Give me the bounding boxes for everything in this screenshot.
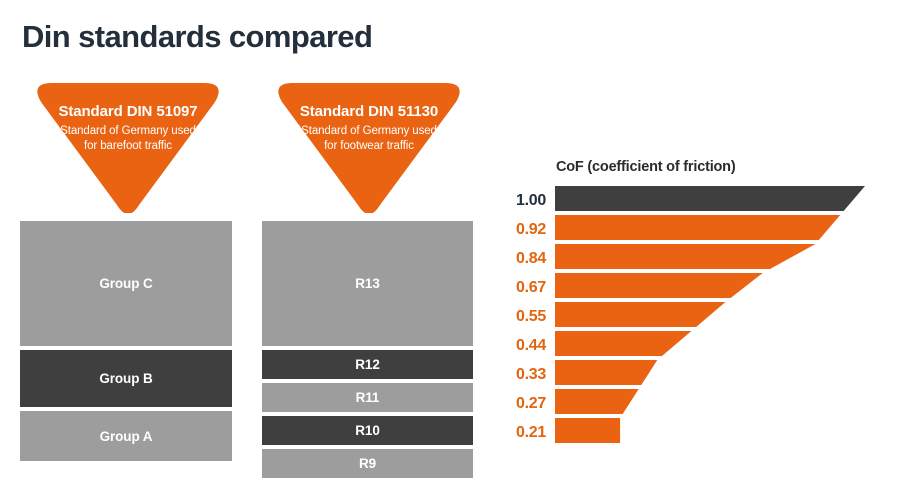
cof-value-label-0-33: 0.33 [492,367,546,383]
cof-bar-0-33[interactable] [555,360,657,385]
bar-label: Group B [99,371,152,386]
callout-subtitle-line1: Standard of Germany used [30,124,226,139]
bar-r12[interactable]: R12 [262,350,473,379]
callout-subtitle-line2: for barefoot traffic [30,139,226,154]
cof-value-label-0-44: 0.44 [492,338,546,354]
groups-bar-column: Group C Group B Group A [20,221,232,471]
bar-group-b[interactable]: Group B [20,350,232,407]
bar-group-a[interactable]: Group A [20,411,232,461]
callout-subtitle-line1: Standard of Germany used [271,124,467,139]
cof-bar-1-00[interactable] [555,186,865,211]
bar-label: R10 [355,423,379,438]
bar-r11[interactable]: R11 [262,383,473,412]
callout-din-51097: Standard DIN 51097 Standard of Germany u… [30,83,226,213]
cof-value-label-0-84: 0.84 [492,251,546,267]
r-rating-bar-column: R13 R12 R11 R10 R9 [262,221,473,471]
bar-label: R12 [355,357,379,372]
bar-label: R9 [359,456,376,471]
cof-value-label-0-67: 0.67 [492,280,546,296]
cof-bar-0-27[interactable] [555,389,639,414]
callout-din-51130: Standard DIN 51130 Standard of Germany u… [271,83,467,213]
callout-subtitle-line2: for footwear traffic [271,139,467,154]
bar-r9[interactable]: R9 [262,449,473,478]
cof-funnel-chart [552,186,898,471]
cof-value-label-0-21: 0.21 [492,425,546,441]
cof-bar-0-55[interactable] [555,302,726,327]
bar-label: Group A [100,429,153,444]
callout-title: Standard DIN 51097 [30,103,226,122]
bar-label: Group C [99,276,152,291]
cof-value-label-0-55: 0.55 [492,309,546,325]
cof-value-label-1-00: 1.00 [492,193,546,209]
bar-group-c[interactable]: Group C [20,221,232,346]
callout-text: Standard DIN 51097 Standard of Germany u… [30,103,226,154]
cof-chart-title: CoF (coefficient of friction) [556,159,735,175]
bar-label: R11 [356,390,380,405]
cof-bar-0-67[interactable] [555,273,763,298]
cof-value-label-0-92: 0.92 [492,222,546,238]
cof-bar-0-92[interactable] [555,215,840,240]
bar-r13[interactable]: R13 [262,221,473,346]
cof-bar-0-21[interactable] [555,418,620,443]
bar-label: R13 [355,276,379,291]
callout-title: Standard DIN 51130 [271,103,467,122]
callout-text: Standard DIN 51130 Standard of Germany u… [271,103,467,154]
page-title: Din standards compared [22,20,372,54]
cof-bar-0-44[interactable] [555,331,691,356]
bar-r10[interactable]: R10 [262,416,473,445]
cof-value-label-0-27: 0.27 [492,396,546,412]
infographic-root: Din standards compared Standard DIN 5109… [0,0,898,490]
cof-bar-0-84[interactable] [555,244,815,269]
